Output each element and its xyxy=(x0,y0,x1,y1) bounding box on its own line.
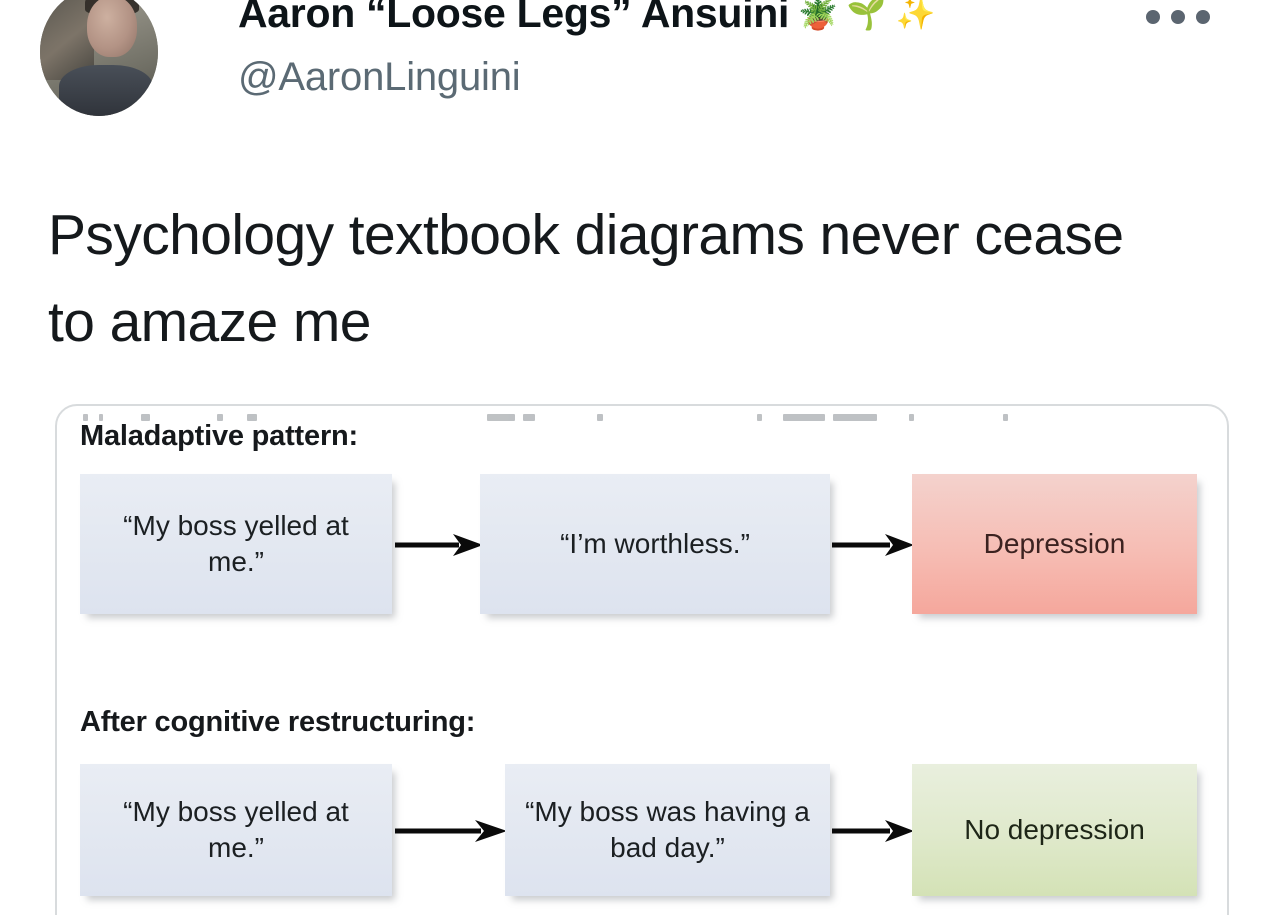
diagram-image-card[interactable]: Maladaptive pattern: “My boss yelled at … xyxy=(55,404,1229,915)
avatar[interactable] xyxy=(40,0,158,116)
user-handle[interactable]: @AaronLinguini xyxy=(238,52,520,102)
node-restructured-thought: “My boss was having a bad day.” xyxy=(505,764,830,896)
node-maladaptive-situation: “My boss yelled at me.” xyxy=(80,474,392,614)
node-maladaptive-thought: “I’m worthless.” xyxy=(480,474,830,614)
sparkles-emoji: ✨ xyxy=(896,0,936,29)
arrow-restructured-1 xyxy=(395,816,507,846)
potted-plant-emoji: 🪴 xyxy=(798,0,838,29)
section-label-restructuring: After cognitive restructuring: xyxy=(80,706,475,739)
flow-row-maladaptive: “My boss yelled at me.” “I’m worthless.”… xyxy=(57,468,1227,628)
avatar-photo-face xyxy=(87,0,137,57)
node-restructured-outcome: No depression xyxy=(912,764,1197,896)
arrow-maladaptive-1 xyxy=(395,530,483,560)
seedling-emoji: 🌱 xyxy=(847,0,887,29)
avatar-photo-torso xyxy=(59,65,153,116)
arrow-maladaptive-2 xyxy=(832,530,914,560)
more-dot-3 xyxy=(1196,10,1210,24)
tweet-screenshot: Aaron “Loose Legs” Ansuini 🪴 🌱 ✨ @AaronL… xyxy=(0,0,1280,915)
arrow-restructured-2 xyxy=(832,816,914,846)
more-options-icon[interactable] xyxy=(1146,6,1210,28)
tweet-header: Aaron “Loose Legs” Ansuini 🪴 🌱 ✨ @AaronL… xyxy=(0,0,1280,135)
display-name-row: Aaron “Loose Legs” Ansuini 🪴 🌱 ✨ xyxy=(238,0,936,38)
node-maladaptive-outcome: Depression xyxy=(912,474,1197,614)
display-name: Aaron “Loose Legs” Ansuini xyxy=(238,0,789,38)
flow-row-restructured: “My boss yelled at me.” “My boss was hav… xyxy=(57,754,1227,914)
tweet-text: Psychology textbook diagrams never cease… xyxy=(48,192,1138,366)
node-restructured-situation: “My boss yelled at me.” xyxy=(80,764,392,896)
more-dot-2 xyxy=(1171,10,1185,24)
section-label-maladaptive: Maladaptive pattern: xyxy=(80,420,358,453)
more-dot-1 xyxy=(1146,10,1160,24)
